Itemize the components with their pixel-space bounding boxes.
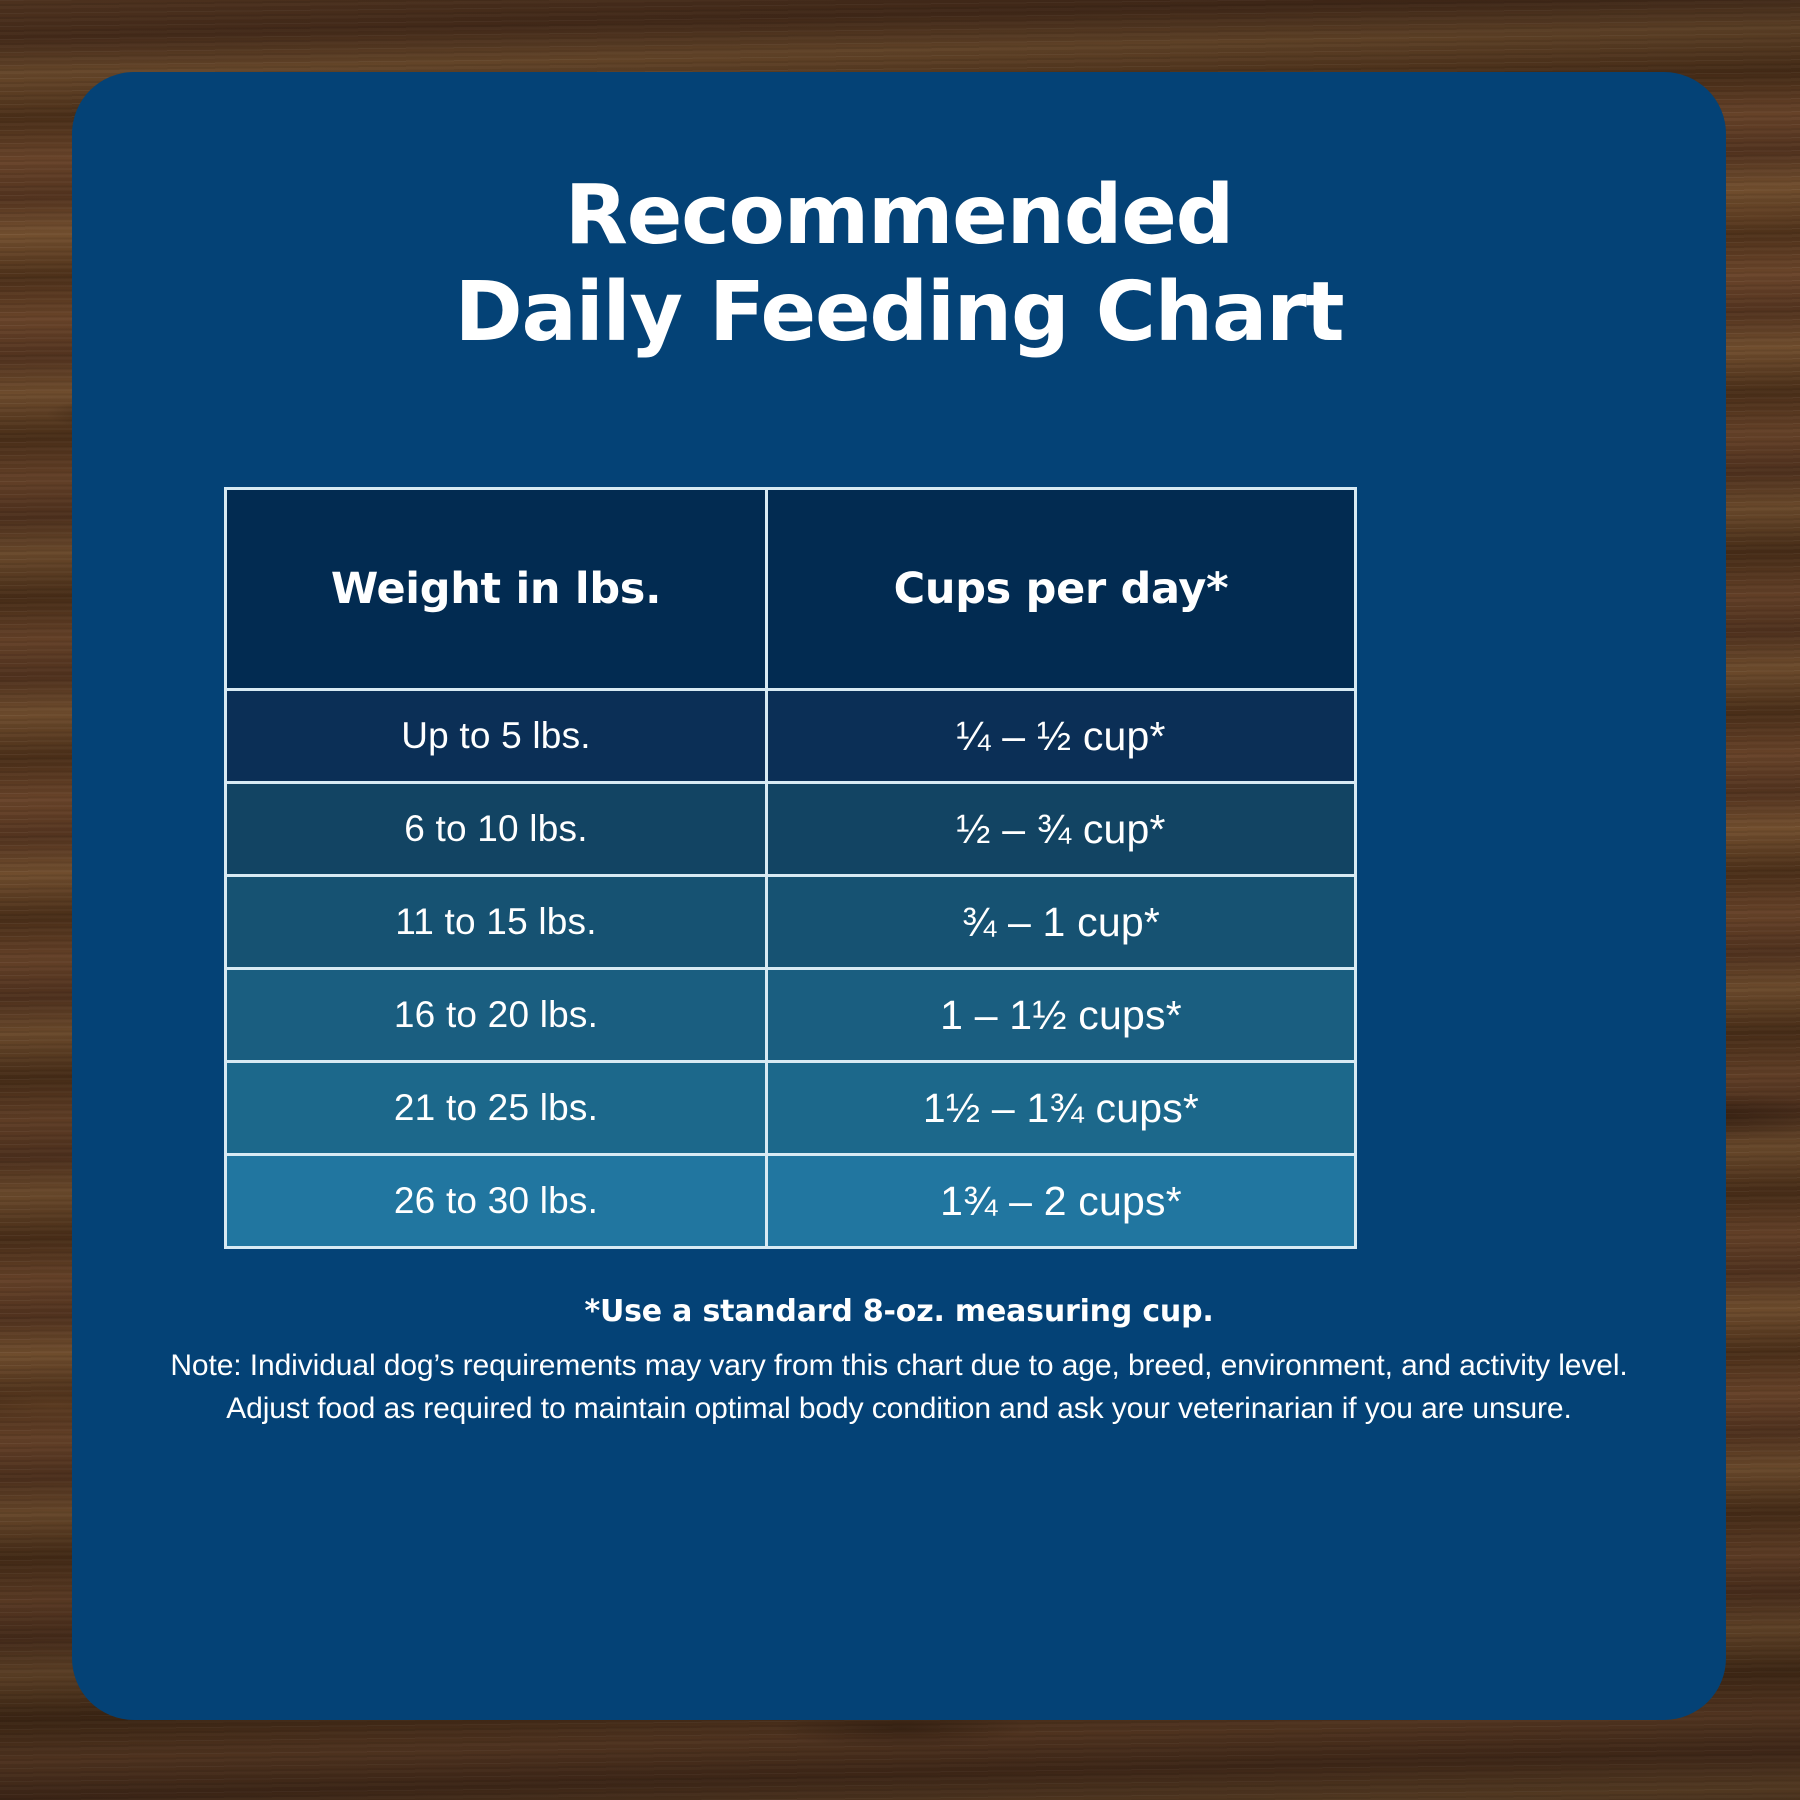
cell-cups: 1 – 1½ cups* xyxy=(767,969,1356,1062)
table-row: 21 to 25 lbs. 1½ – 1¾ cups* xyxy=(226,1062,1356,1155)
page-title: Recommended Daily Feeding Chart xyxy=(72,168,1726,362)
page-title-line-2: Daily Feeding Chart xyxy=(72,265,1726,362)
table-header: Weight in lbs. Cups per day* xyxy=(226,489,1356,690)
table-row: 16 to 20 lbs. 1 – 1½ cups* xyxy=(226,969,1356,1062)
cell-weight: 26 to 30 lbs. xyxy=(226,1155,767,1248)
feeding-chart-card: Recommended Daily Feeding Chart Weight i… xyxy=(72,72,1726,1720)
cell-cups: ¼ – ½ cup* xyxy=(767,690,1356,783)
cell-weight: 16 to 20 lbs. xyxy=(226,969,767,1062)
cell-weight: 21 to 25 lbs. xyxy=(226,1062,767,1155)
page-title-line-1: Recommended xyxy=(72,168,1726,265)
footnotes: *Use a standard 8-oz. measuring cup. Not… xyxy=(132,1294,1666,1430)
feeding-table: Weight in lbs. Cups per day* Up to 5 lbs… xyxy=(224,487,1357,1249)
table-body: Up to 5 lbs. ¼ – ½ cup* 6 to 10 lbs. ½ –… xyxy=(226,690,1356,1248)
table-row: 6 to 10 lbs. ½ – ¾ cup* xyxy=(226,783,1356,876)
disclaimer-line-1: Note: Individual dog’s requirements may … xyxy=(132,1345,1666,1388)
table-row: 11 to 15 lbs. ¾ – 1 cup* xyxy=(226,876,1356,969)
feeding-table-container: Weight in lbs. Cups per day* Up to 5 lbs… xyxy=(224,487,1354,1249)
cell-cups: 1¾ – 2 cups* xyxy=(767,1155,1356,1248)
cell-weight: 11 to 15 lbs. xyxy=(226,876,767,969)
disclaimer-line-2: Adjust food as required to maintain opti… xyxy=(132,1388,1666,1431)
table-row: Up to 5 lbs. ¼ – ½ cup* xyxy=(226,690,1356,783)
cell-weight: 6 to 10 lbs. xyxy=(226,783,767,876)
cell-weight: Up to 5 lbs. xyxy=(226,690,767,783)
table-header-row: Weight in lbs. Cups per day* xyxy=(226,489,1356,690)
column-header-cups: Cups per day* xyxy=(767,489,1356,690)
cell-cups: ½ – ¾ cup* xyxy=(767,783,1356,876)
disclaimer-note: Note: Individual dog’s requirements may … xyxy=(132,1345,1666,1430)
table-row: 26 to 30 lbs. 1¾ – 2 cups* xyxy=(226,1155,1356,1248)
cell-cups: ¾ – 1 cup* xyxy=(767,876,1356,969)
column-header-weight: Weight in lbs. xyxy=(226,489,767,690)
measuring-cup-note: *Use a standard 8-oz. measuring cup. xyxy=(132,1294,1666,1329)
cell-cups: 1½ – 1¾ cups* xyxy=(767,1062,1356,1155)
